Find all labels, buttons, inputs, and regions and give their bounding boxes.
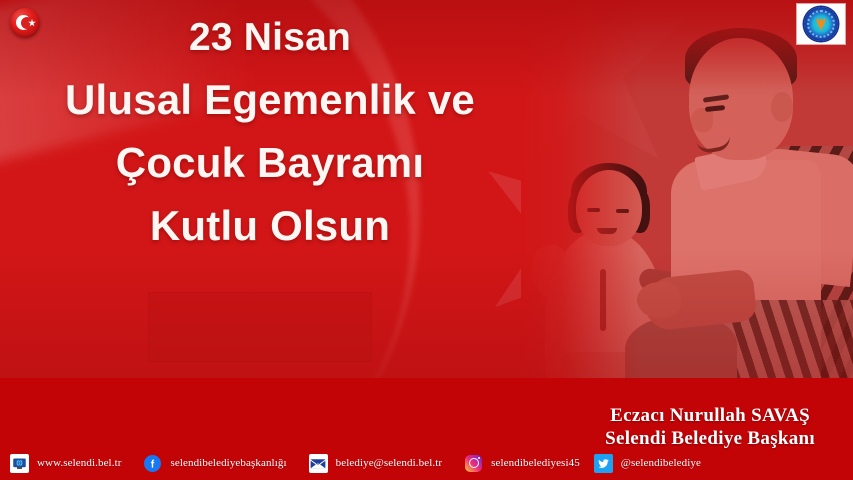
facebook-icon [143, 454, 162, 473]
facebook-label: selendibelediyebaşkanlığı [170, 457, 286, 469]
crescent-icon [16, 15, 31, 30]
seal-disc [804, 7, 838, 41]
contact-item-facebook[interactable]: selendibelediyebaşkanlığı [143, 454, 286, 473]
page-title: 23 Nisan Ulusal Egemenlik ve Çocuk Bayra… [0, 6, 540, 249]
svg-text:@: @ [317, 460, 320, 464]
instagram-square [465, 455, 482, 472]
ataturk-children-photo [521, 0, 853, 378]
headline-line-2: Ulusal Egemenlik ve [0, 76, 540, 123]
signature-name: Eczacı Nurullah SAVAŞ [605, 404, 815, 427]
headline-line-4: Kutlu Olsun [0, 202, 540, 249]
turkish-flag-icon [10, 8, 40, 38]
banner-artwork: 23 Nisan Ulusal Egemenlik ve Çocuk Bayra… [0, 0, 853, 378]
tulip-icon [816, 18, 827, 31]
instagram-label: selendibelediyesi45 [491, 457, 580, 469]
footer-bar: Eczacı Nurullah SAVAŞ Selendi Belediye B… [0, 378, 853, 480]
instagram-dot [478, 457, 480, 459]
municipality-seal-icon [797, 4, 845, 44]
website-label: www.selendi.bel.tr [37, 457, 121, 469]
twitter-icon [594, 454, 613, 473]
website-icon [10, 454, 29, 473]
twitter-label: @selendibelediye [621, 457, 701, 469]
headline-line-3: Çocuk Bayramı [0, 139, 540, 186]
signature-block: Eczacı Nurullah SAVAŞ Selendi Belediye B… [605, 404, 815, 450]
email-icon: @ [309, 454, 328, 473]
photo-inner [521, 0, 853, 378]
contact-item-website[interactable]: www.selendi.bel.tr [10, 454, 121, 473]
signature-title: Selendi Belediye Başkanı [605, 427, 815, 450]
contact-item-twitter[interactable]: @selendibelediye [594, 454, 701, 473]
headline-line-1: 23 Nisan [0, 16, 540, 60]
empty-text-box [148, 292, 372, 362]
poster-root: 23 Nisan Ulusal Egemenlik ve Çocuk Bayra… [0, 0, 853, 480]
contact-item-email[interactable]: @ belediye@selendi.bel.tr [309, 454, 443, 473]
contact-item-instagram[interactable]: selendibelediyesi45 [464, 454, 580, 473]
email-label: belediye@selendi.bel.tr [336, 457, 443, 469]
contact-bar: www.selendi.bel.tr selendibelediyebaşkan… [0, 452, 853, 474]
facebook-circle [144, 455, 161, 472]
instagram-icon [464, 454, 483, 473]
